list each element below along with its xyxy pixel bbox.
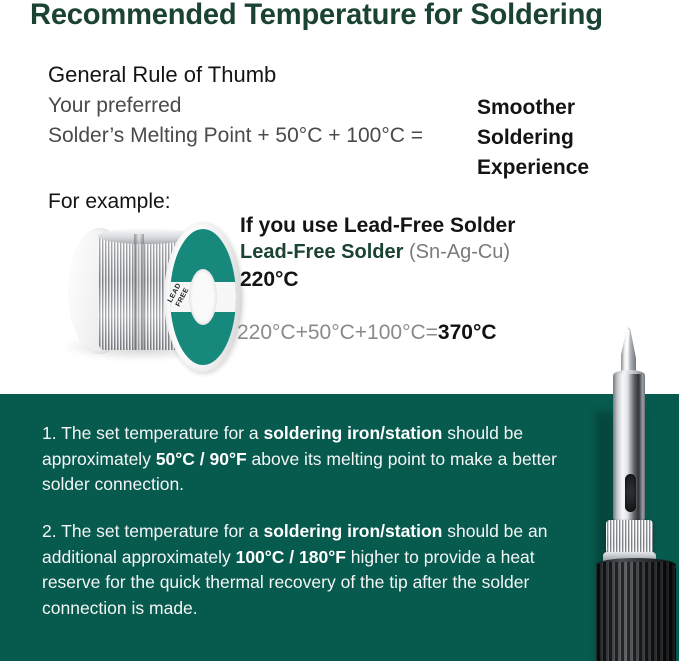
result-line-2: Soldering — [477, 123, 589, 153]
general-rule-heading: General Rule of Thumb — [48, 62, 276, 88]
note-emphasis: 50°C / 90°F — [156, 449, 247, 469]
note-text: 1. The set temperature for a — [42, 423, 263, 443]
equation-result: 370°C — [438, 321, 497, 344]
general-rule-line-2: Solder’s Melting Point + 50°C + 100°C = — [48, 124, 423, 148]
soldering-temperature-infographic: Recommended Temperature for Soldering Ge… — [0, 0, 679, 661]
note-emphasis: soldering iron/station — [263, 521, 442, 541]
note-emphasis: 100°C / 180°F — [236, 547, 346, 567]
example-solder-spec: Lead-Free Solder (Sn-Ag-Cu) — [240, 241, 510, 264]
solder-spool-image: LEAD FREE — [60, 222, 220, 372]
example-solder-name: Lead-Free Solder — [240, 241, 403, 263]
note-text: 2. The set temperature for a — [42, 521, 263, 541]
example-title: If you use Lead-Free Solder — [240, 214, 515, 238]
notes-panel: 1. The set temperature for a soldering i… — [0, 394, 679, 661]
iron-knurled-nut — [606, 520, 653, 554]
iron-handle — [596, 562, 676, 661]
result-line-3: Experience — [477, 153, 589, 183]
for-example-label: For example: — [48, 190, 171, 214]
example-melting-point: 220°C — [240, 268, 299, 292]
soldering-iron-image — [592, 326, 676, 661]
example-solder-alloy: (Sn-Ag-Cu) — [409, 241, 510, 263]
iron-barrel-slot — [625, 474, 636, 512]
note-emphasis: soldering iron/station — [263, 423, 442, 443]
example-equation: 220°C+50°C+100°C=370°C — [237, 321, 497, 345]
note-2: 2. The set temperature for a soldering i… — [42, 519, 572, 621]
spool-front-flange: LEAD FREE — [164, 222, 242, 372]
result-line-1: Smoother — [477, 93, 589, 123]
note-1: 1. The set temperature for a soldering i… — [42, 421, 572, 498]
general-rule-line-1: Your preferred — [48, 94, 181, 118]
solder-wire-seam — [134, 234, 144, 350]
equation-prefix: 220°C+50°C+100°C= — [237, 321, 438, 344]
general-rule-result: Smoother Soldering Experience — [477, 93, 589, 183]
page-title: Recommended Temperature for Soldering — [30, 0, 641, 32]
